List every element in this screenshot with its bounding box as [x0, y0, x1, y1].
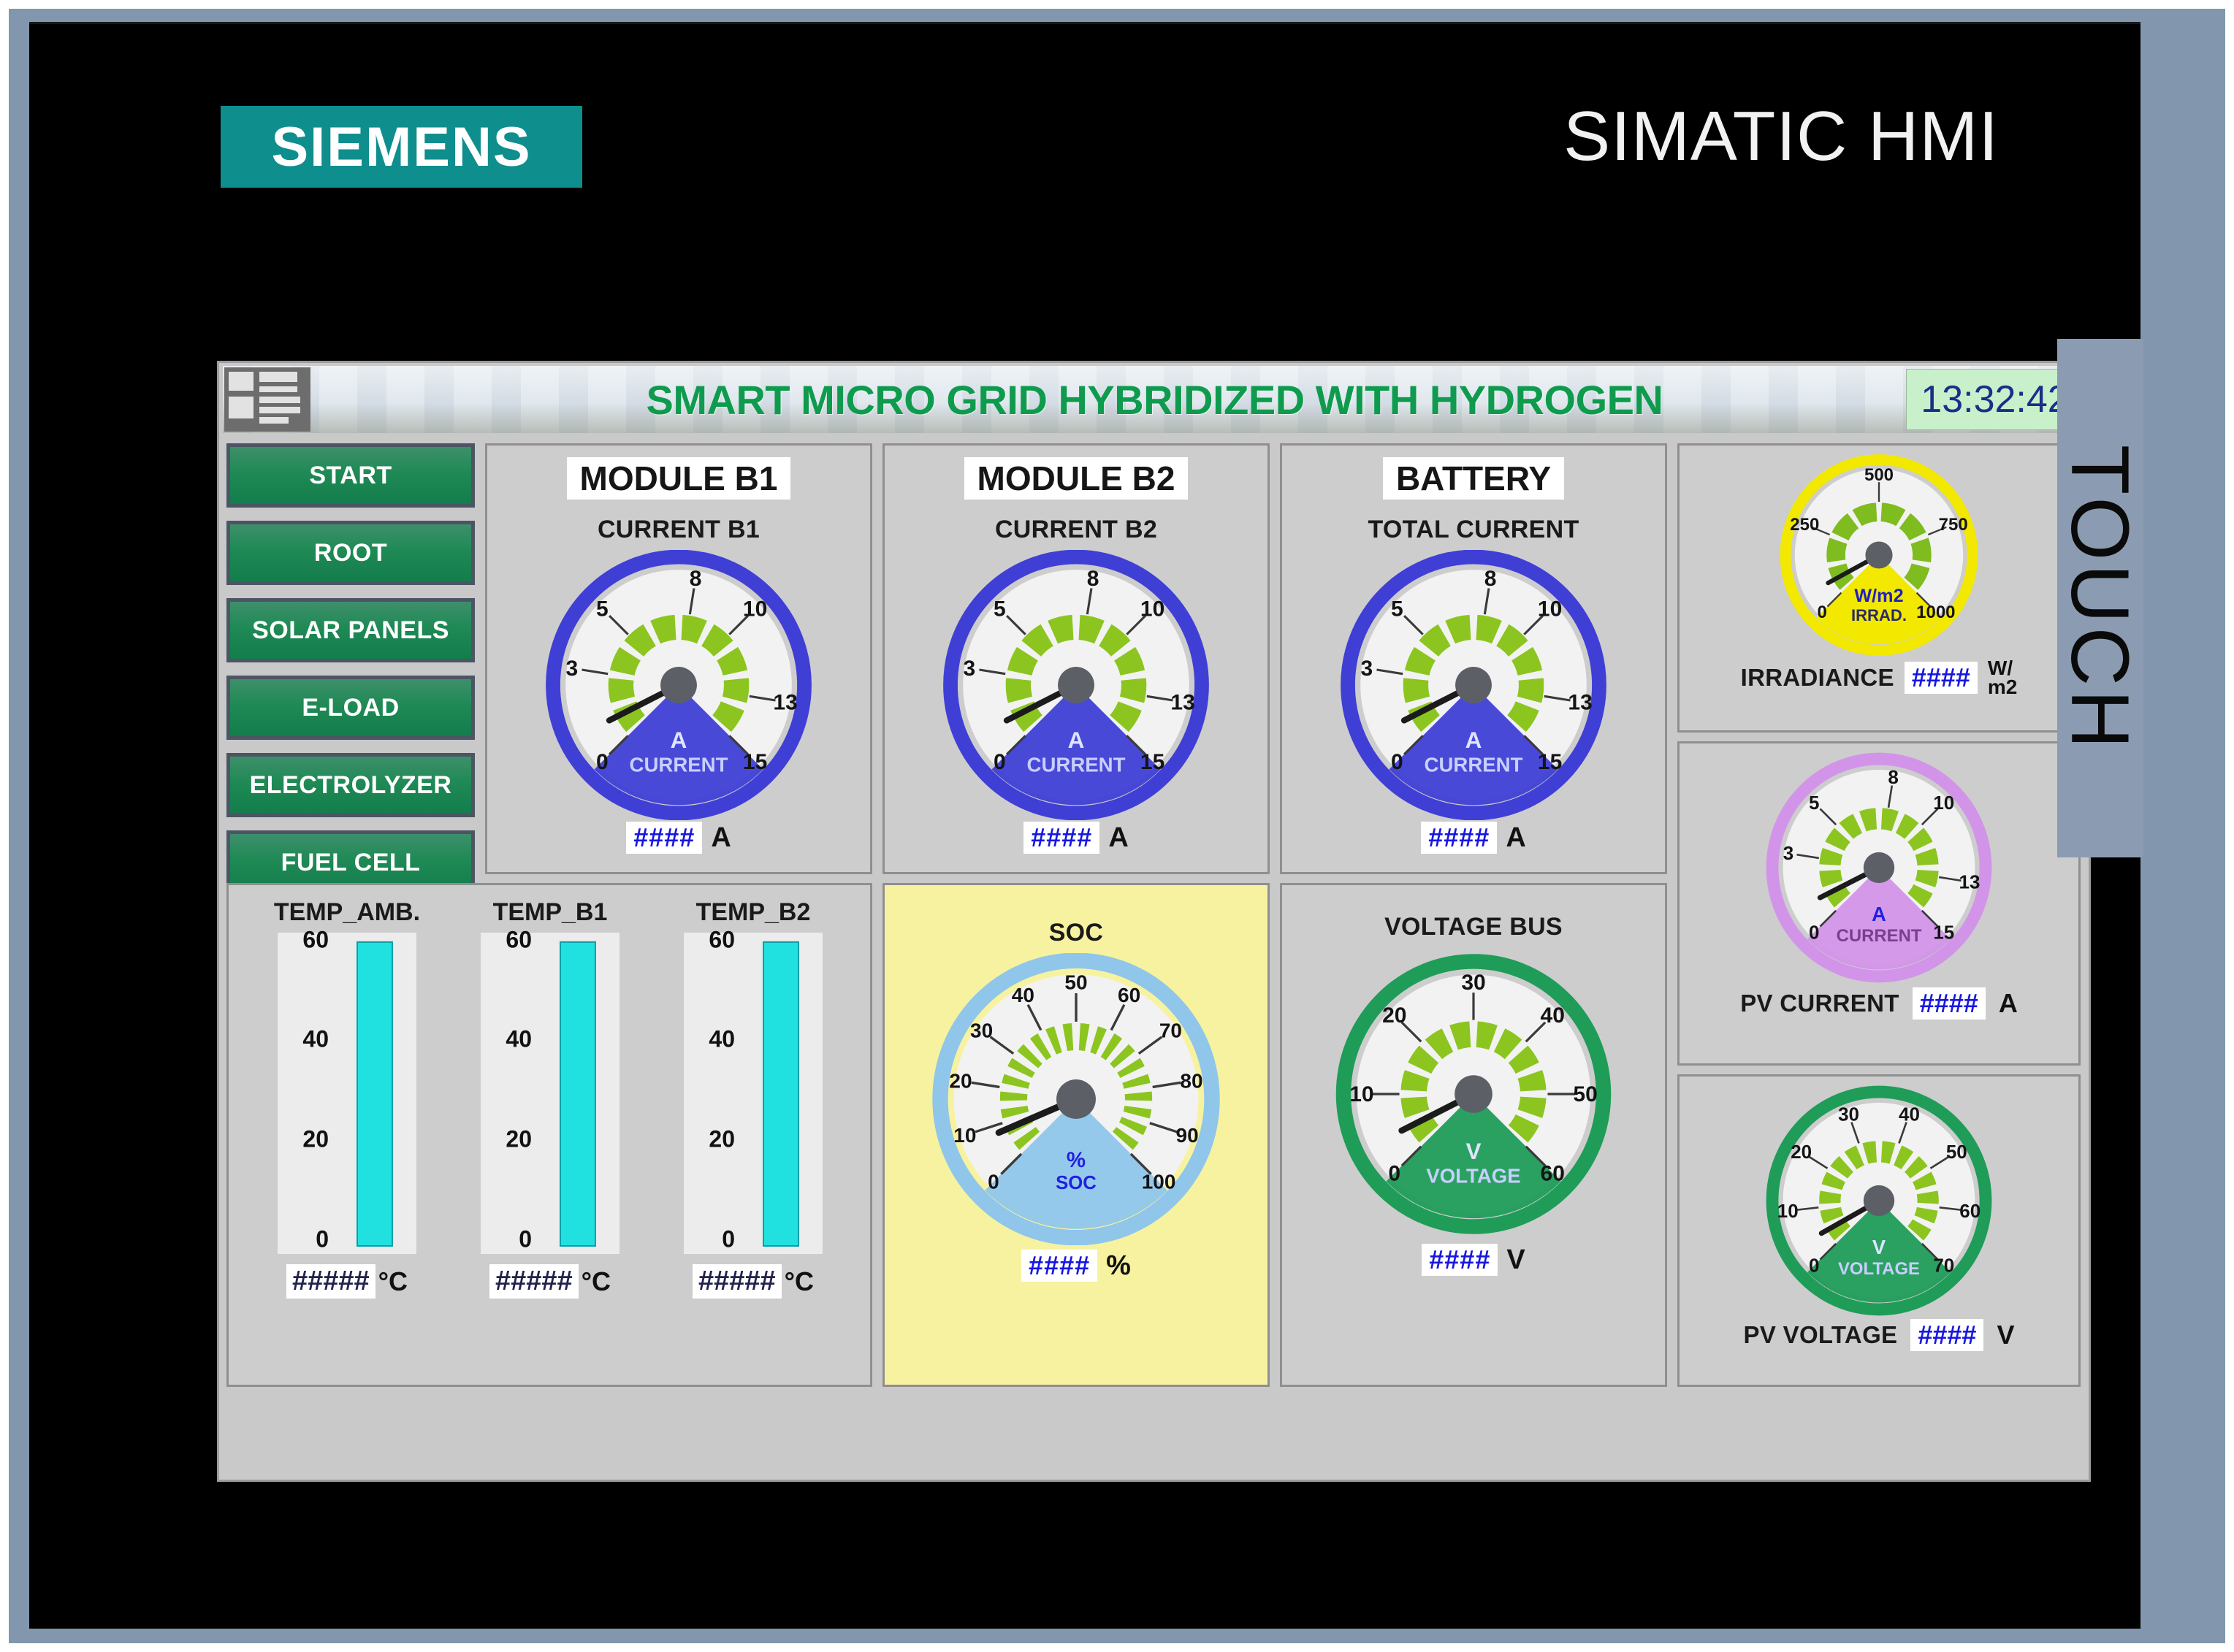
temp-scale: 60 40 20 0 [481, 933, 551, 1254]
svg-text:10: 10 [953, 1124, 976, 1147]
unit-line-2: m2 [1988, 678, 2017, 697]
svg-text:13: 13 [1959, 871, 1981, 892]
readout-irradiance: IRRADIANCE #### W/ m2 [1680, 659, 2078, 697]
svg-text:3: 3 [566, 657, 579, 681]
temp-tick-60: 60 [709, 927, 735, 954]
gauge-soc: 0102030405060708090100%SOC [915, 953, 1237, 1245]
panel-title-module-b1: MODULE B1 [567, 457, 791, 500]
screen-header: SMART MICRO GRID HYBRIDIZED WITH HYDROGE… [223, 366, 2086, 433]
svg-text:A: A [1465, 727, 1482, 753]
svg-text:40: 40 [1899, 1103, 1920, 1125]
svg-text:3: 3 [1361, 657, 1373, 681]
panel-module-b1: MODULE B1 CURRENT B1 0358101315ACURRENT … [485, 443, 872, 874]
svg-text:30: 30 [1461, 971, 1485, 995]
panel-title-battery: BATTERY [1383, 457, 1564, 500]
right-bezel-strip [2140, 9, 2216, 1643]
temp-column-amb: TEMP_AMB. 60 40 20 0 ##### °C [245, 898, 449, 1299]
readout-value: #### [1023, 822, 1099, 854]
readout-unit: V [1506, 1244, 1525, 1276]
svg-text:70: 70 [1159, 1019, 1182, 1041]
unit-line-1: W/ [1988, 659, 2017, 678]
temp-tick-20: 20 [302, 1126, 329, 1153]
svg-text:A: A [1872, 903, 1886, 925]
readout-value: #### [626, 822, 702, 854]
svg-text:10: 10 [1538, 597, 1562, 622]
nav-button-label: E-LOAD [302, 694, 399, 722]
temp-tick-60: 60 [302, 927, 329, 954]
svg-text:60: 60 [1541, 1161, 1565, 1185]
gauge-irradiance: 02505007501000W/m2IRRAD. [1769, 453, 1989, 657]
readout-temp-b2: ##### °C [651, 1264, 855, 1299]
readout-current-b2: #### A [885, 822, 1267, 854]
temp-title: TEMP_B2 [651, 898, 855, 927]
svg-text:10: 10 [1349, 1082, 1373, 1106]
temp-tick-40: 40 [302, 1026, 329, 1053]
temp-fill [560, 941, 596, 1247]
svg-text:0: 0 [596, 750, 609, 774]
svg-text:750: 750 [1939, 515, 1968, 535]
product-title: SIMATIC HMI [1563, 96, 1999, 177]
touch-label: TOUCH [2057, 339, 2143, 857]
svg-text:10: 10 [1140, 597, 1164, 622]
gauge-label-current-b1: CURRENT B1 [487, 516, 870, 544]
readout-temp-b1: ##### °C [448, 1264, 652, 1299]
svg-text:0: 0 [994, 750, 1006, 774]
svg-text:A: A [671, 727, 687, 753]
svg-text:W/m2: W/m2 [1854, 586, 1903, 606]
svg-text:20: 20 [1382, 1003, 1406, 1028]
readout-unit: A [1506, 822, 1525, 854]
temp-column-b1: TEMP_B1 60 40 20 0 ##### °C [448, 898, 652, 1299]
nav-button-label: SOLAR PANELS [252, 616, 449, 645]
panel-temperatures: TEMP_AMB. 60 40 20 0 ##### °C [226, 883, 872, 1387]
nav-button-e-load[interactable]: E-LOAD [226, 676, 475, 740]
svg-text:40: 40 [1012, 984, 1034, 1006]
temp-title: TEMP_B1 [448, 898, 652, 927]
svg-text:8: 8 [1888, 766, 1898, 788]
hmi-screen: SMART MICRO GRID HYBRIDIZED WITH HYDROGE… [217, 361, 2091, 1482]
svg-text:%: % [1067, 1148, 1086, 1172]
svg-text:50: 50 [1946, 1141, 1967, 1163]
svg-text:30: 30 [1838, 1103, 1859, 1125]
svg-text:60: 60 [1118, 984, 1140, 1006]
svg-text:0: 0 [1809, 1255, 1819, 1277]
nav-button-solar-panels[interactable]: SOLAR PANELS [226, 598, 475, 662]
readout-temp-amb: ##### °C [245, 1264, 449, 1299]
readout-unit: A [711, 822, 731, 854]
temp-scale: 60 40 20 0 [278, 933, 348, 1254]
svg-text:20: 20 [949, 1069, 972, 1092]
svg-text:0: 0 [1809, 922, 1819, 944]
temp-tick-0: 0 [722, 1226, 735, 1253]
nav-button-column: START ROOT SOLAR PANELS E-LOAD ELECTROLY… [226, 443, 475, 908]
page-title: SMART MICRO GRID HYBRIDIZED WITH HYDROGE… [223, 366, 2086, 433]
temp-bargraph: 60 40 20 0 [481, 933, 620, 1254]
panel-battery: BATTERY TOTAL CURRENT 0358101315ACURRENT… [1280, 443, 1667, 874]
temp-tick-0: 0 [519, 1226, 532, 1253]
gauge-label-current-b2: CURRENT B2 [885, 516, 1267, 544]
svg-text:0: 0 [1391, 750, 1403, 774]
readout-current-b1: #### A [487, 822, 870, 854]
svg-text:IRRAD.: IRRAD. [1851, 606, 1907, 624]
temp-track [357, 940, 393, 1247]
svg-text:500: 500 [1864, 465, 1894, 485]
readout-total-current: #### A [1282, 822, 1665, 854]
temp-bargraph: 60 40 20 0 [278, 933, 416, 1254]
siemens-logo: SIEMENS [221, 106, 582, 188]
nav-button-label: ELECTROLYZER [250, 771, 452, 800]
gauge-current-b2: 0358101315ACURRENT [923, 550, 1230, 820]
readout-unit: V [1997, 1320, 2014, 1350]
panel-soc: SOC 0102030405060708090100%SOC #### % [882, 883, 1270, 1387]
readout-unit: A [1108, 822, 1128, 854]
readout-unit: °C [582, 1266, 611, 1297]
svg-text:A: A [1068, 727, 1085, 753]
gauge-total-current: 0358101315ACURRENT [1320, 550, 1627, 820]
readout-label: IRRADIANCE [1741, 664, 1894, 692]
nav-button-start[interactable]: START [226, 443, 475, 508]
svg-text:15: 15 [1140, 750, 1164, 774]
svg-text:10: 10 [1933, 792, 1954, 814]
readout-unit: W/ m2 [1988, 659, 2017, 697]
readout-value: ##### [693, 1264, 782, 1299]
readout-value: #### [1021, 1250, 1097, 1282]
svg-text:8: 8 [1484, 567, 1497, 591]
readout-value: #### [1905, 662, 1978, 694]
svg-text:0: 0 [988, 1171, 999, 1193]
panel-pv-current: 0358101315ACURRENT PV CURRENT #### A [1677, 741, 2081, 1066]
panel-irradiance: 02505007501000W/m2IRRAD. IRRADIANCE ####… [1677, 443, 2081, 733]
temp-tick-40: 40 [709, 1026, 735, 1053]
nav-button-label: ROOT [314, 539, 387, 567]
svg-text:13: 13 [773, 690, 797, 714]
temp-track [560, 940, 596, 1247]
gauge-current-b1: 0358101315ACURRENT [525, 550, 832, 820]
readout-value: ##### [286, 1264, 375, 1299]
temp-title: TEMP_AMB. [245, 898, 449, 927]
svg-text:CURRENT: CURRENT [1837, 926, 1922, 946]
svg-text:V: V [1465, 1138, 1481, 1164]
svg-text:15: 15 [1538, 750, 1562, 774]
temp-tick-60: 60 [506, 927, 532, 954]
readout-label: PV CURRENT [1740, 990, 1899, 1017]
readout-value: ##### [489, 1264, 579, 1299]
svg-text:VOLTAGE: VOLTAGE [1838, 1259, 1920, 1279]
svg-text:15: 15 [743, 750, 767, 774]
svg-text:10: 10 [1777, 1200, 1799, 1222]
nav-button-root[interactable]: ROOT [226, 521, 475, 585]
panel-module-b2: MODULE B2 CURRENT B2 0358101315ACURRENT … [882, 443, 1270, 874]
hmi-device: SIEMENS SIMATIC HMI SMART MICRO GRID HYB… [9, 9, 2225, 1643]
readout-voltage-bus: #### V [1282, 1244, 1665, 1276]
svg-text:0: 0 [1388, 1161, 1400, 1185]
svg-text:250: 250 [1790, 515, 1819, 535]
readout-value: #### [1913, 987, 1986, 1020]
readout-pv-current: PV CURRENT #### A [1680, 987, 2078, 1020]
svg-text:0: 0 [1817, 603, 1826, 622]
readout-unit: A [1999, 988, 2018, 1019]
readout-unit: % [1106, 1250, 1131, 1282]
svg-text:15: 15 [1933, 922, 1954, 944]
svg-text:30: 30 [970, 1019, 993, 1041]
svg-text:5: 5 [1809, 792, 1819, 814]
gauge-voltage-bus: 0102030405060VVOLTAGE [1320, 952, 1627, 1236]
svg-text:60: 60 [1959, 1200, 1981, 1222]
svg-text:100: 100 [1142, 1171, 1176, 1193]
svg-text:CURRENT: CURRENT [1027, 753, 1126, 776]
svg-text:70: 70 [1933, 1255, 1954, 1277]
nav-button-label: START [309, 462, 392, 490]
gauge-label-total-current: TOTAL CURRENT [1282, 516, 1665, 544]
temp-tick-20: 20 [506, 1126, 532, 1153]
svg-text:20: 20 [1791, 1141, 1812, 1163]
temp-track [763, 940, 799, 1247]
nav-button-electrolyzer[interactable]: ELECTROLYZER [226, 753, 475, 817]
gauge-pv-voltage: 010203040506070VVOLTAGE [1758, 1084, 1999, 1318]
siemens-logo-text: SIEMENS [271, 115, 531, 179]
temp-fill [763, 941, 799, 1247]
readout-value: #### [1910, 1319, 1983, 1351]
svg-text:CURRENT: CURRENT [1425, 753, 1523, 776]
panel-title-module-b2: MODULE B2 [964, 457, 1189, 500]
nav-button-label: FUEL CELL [281, 849, 421, 877]
svg-text:V: V [1872, 1236, 1886, 1258]
readout-value: #### [1421, 822, 1497, 854]
svg-text:SOC: SOC [1056, 1173, 1097, 1193]
svg-text:3: 3 [964, 657, 976, 681]
svg-text:40: 40 [1541, 1003, 1565, 1028]
temp-fill [357, 941, 393, 1247]
gauge-label-voltage-bus: VOLTAGE BUS [1282, 913, 1665, 941]
svg-text:50: 50 [1064, 971, 1087, 994]
svg-text:50: 50 [1573, 1082, 1597, 1106]
svg-text:8: 8 [690, 567, 702, 591]
readout-label: PV VOLTAGE [1744, 1321, 1898, 1349]
svg-text:90: 90 [1176, 1124, 1199, 1147]
svg-text:13: 13 [1170, 690, 1194, 714]
svg-text:5: 5 [596, 597, 609, 622]
svg-text:3: 3 [1783, 842, 1793, 864]
temp-bargraph: 60 40 20 0 [684, 933, 823, 1254]
temp-tick-20: 20 [709, 1126, 735, 1153]
temp-tick-0: 0 [316, 1226, 329, 1253]
svg-text:1000: 1000 [1916, 603, 1955, 622]
svg-text:13: 13 [1568, 690, 1592, 714]
svg-text:5: 5 [1391, 597, 1403, 622]
svg-text:5: 5 [994, 597, 1006, 622]
touch-label-text: TOUCH [2054, 444, 2148, 752]
readout-unit: °C [378, 1266, 408, 1297]
readout-unit: °C [785, 1266, 814, 1297]
svg-text:VOLTAGE: VOLTAGE [1426, 1164, 1520, 1187]
panel-voltage-bus: VOLTAGE BUS 0102030405060VVOLTAGE #### V [1280, 883, 1667, 1387]
gauge-pv-current: 0358101315ACURRENT [1758, 751, 1999, 984]
svg-text:8: 8 [1087, 567, 1099, 591]
panel-pv-voltage: 010203040506070VVOLTAGE PV VOLTAGE #### … [1677, 1074, 2081, 1387]
svg-text:CURRENT: CURRENT [630, 753, 728, 776]
temp-scale: 60 40 20 0 [684, 933, 754, 1254]
temp-tick-40: 40 [506, 1026, 532, 1053]
svg-text:80: 80 [1180, 1069, 1202, 1092]
readout-value: #### [1422, 1244, 1498, 1276]
readout-soc: #### % [885, 1250, 1267, 1282]
readout-pv-voltage: PV VOLTAGE #### V [1680, 1319, 2078, 1351]
temp-column-b2: TEMP_B2 60 40 20 0 ##### °C [651, 898, 855, 1299]
svg-text:10: 10 [743, 597, 767, 622]
gauge-label-soc: SOC [885, 919, 1267, 947]
